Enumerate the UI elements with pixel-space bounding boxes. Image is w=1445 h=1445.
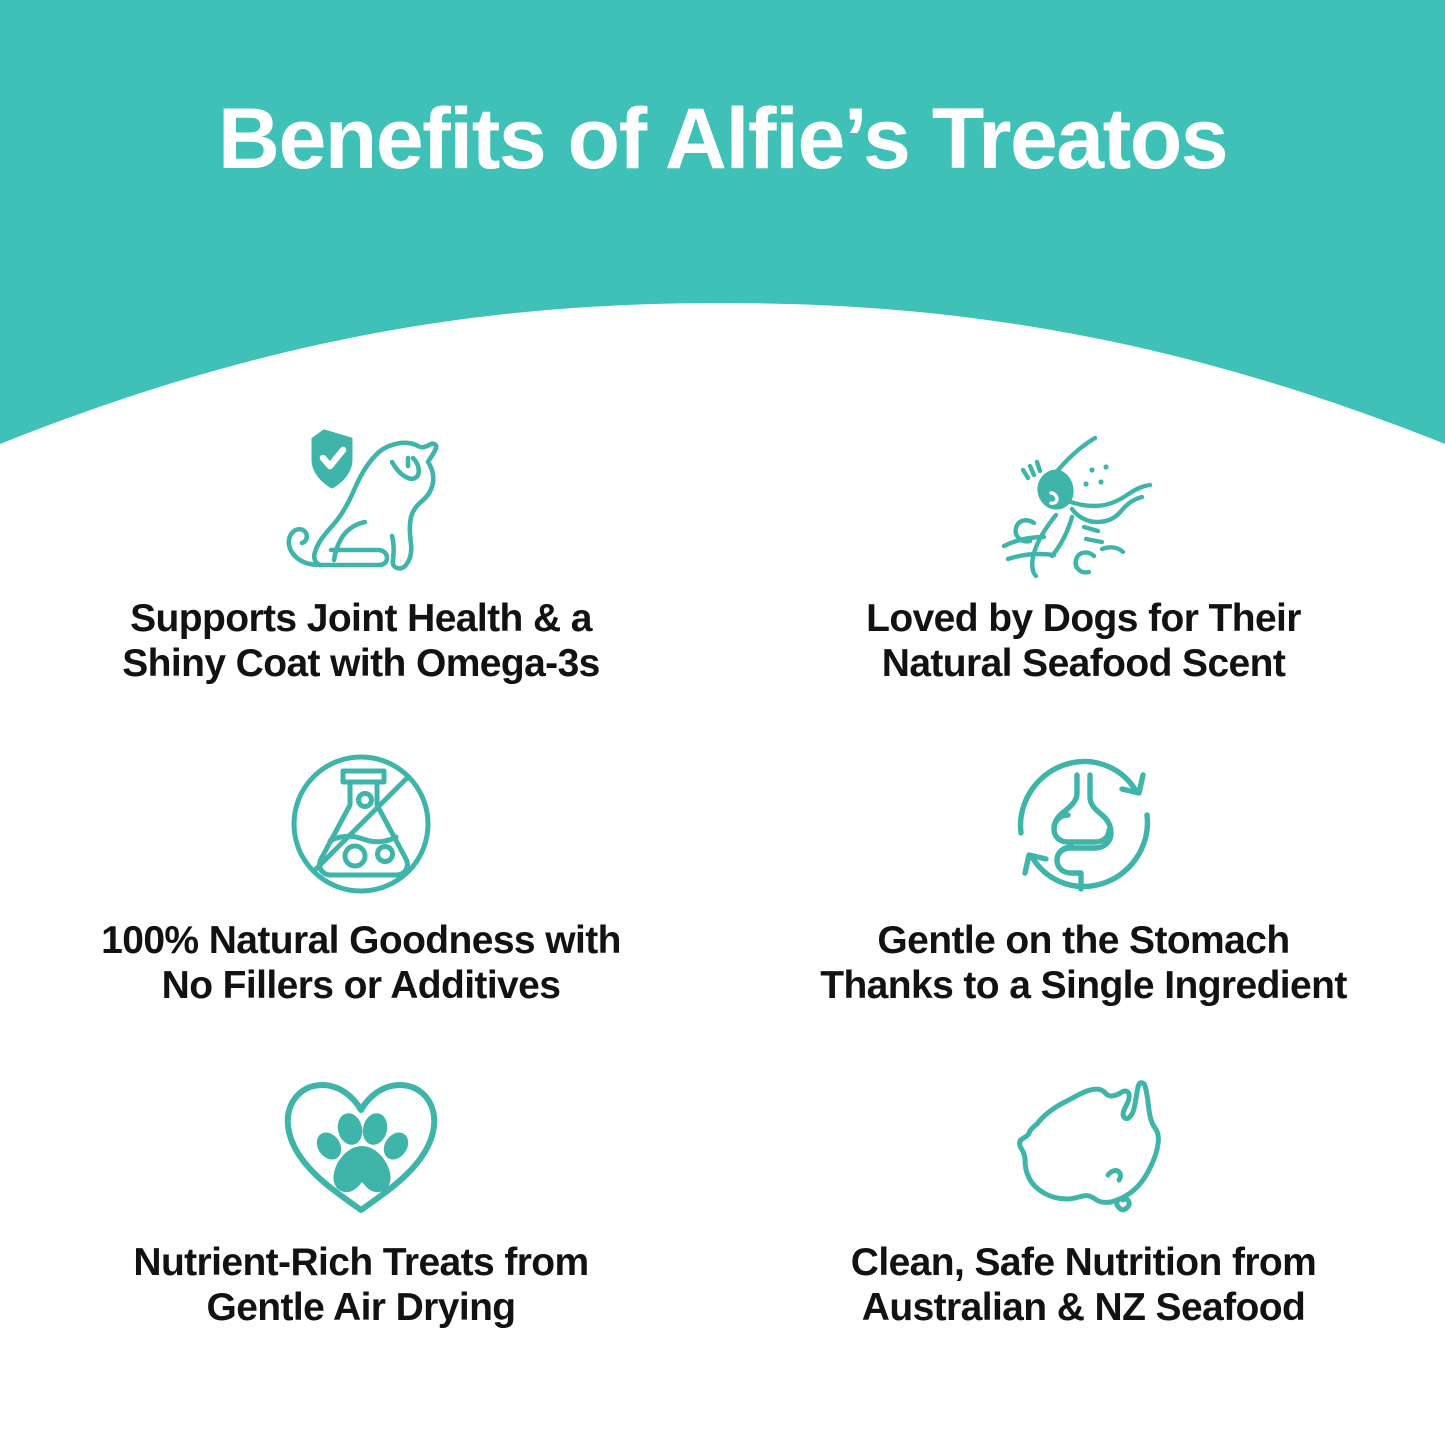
benefit-label-line2: Shiny Coat with Omega-3s [122,641,600,686]
benefit-label: Loved by Dogs for Their Natural Seafood … [866,596,1301,686]
page-title: Benefits of Alfie’s Treatos [0,96,1445,182]
benefit-label: Clean, Safe Nutrition from Australian & … [851,1240,1316,1330]
benefit-label-line2: Gentle Air Drying [133,1285,588,1330]
benefit-item-joint-health: Supports Joint Health & a Shiny Coat wit… [0,410,722,732]
benefit-label-line1: Loved by Dogs for Their [866,596,1301,641]
no-chemicals-flask-icon [256,740,466,908]
benefit-label: 100% Natural Goodness with No Fillers or… [101,918,621,1008]
benefit-label-line2: Australian & NZ Seafood [851,1285,1316,1330]
heart-with-paw-print-icon [256,1062,466,1230]
benefit-label: Gentle on the Stomach Thanks to a Single… [820,918,1347,1008]
benefit-item-gentle-stomach: Gentle on the Stomach Thanks to a Single… [722,732,1445,1054]
benefit-item-seafood-scent: Loved by Dogs for Their Natural Seafood … [722,410,1445,732]
benefits-grid: Supports Joint Health & a Shiny Coat wit… [0,410,1445,1376]
benefit-item-aus-nz-seafood: Clean, Safe Nutrition from Australian & … [722,1054,1445,1376]
australia-map-icon [979,1062,1189,1230]
dog-with-shield-icon [256,418,466,586]
benefit-label-line1: Supports Joint Health & a [122,596,600,641]
benefit-label-line2: Thanks to a Single Ingredient [820,963,1347,1008]
benefit-label-line1: 100% Natural Goodness with [101,918,621,963]
benefit-label-line2: No Fillers or Additives [101,963,621,1008]
benefit-label-line1: Nutrient-Rich Treats from [133,1240,588,1285]
header-band [0,0,1445,470]
benefit-label: Nutrient-Rich Treats from Gentle Air Dry… [133,1240,588,1330]
dog-nose-sniffing-scent-icon [979,418,1189,586]
benefit-label: Supports Joint Health & a Shiny Coat wit… [122,596,600,686]
benefit-label-line1: Gentle on the Stomach [820,918,1347,963]
benefit-item-natural-goodness: 100% Natural Goodness with No Fillers or… [0,732,722,1054]
header-curve-shape [0,0,1445,470]
benefit-label-line2: Natural Seafood Scent [866,641,1301,686]
benefit-label-line1: Clean, Safe Nutrition from [851,1240,1316,1285]
benefit-item-air-drying: Nutrient-Rich Treats from Gentle Air Dry… [0,1054,722,1376]
intestines-digestion-cycle-icon [979,740,1189,908]
benefits-poster: Benefits of Alfie’s Treatos [0,0,1445,1445]
